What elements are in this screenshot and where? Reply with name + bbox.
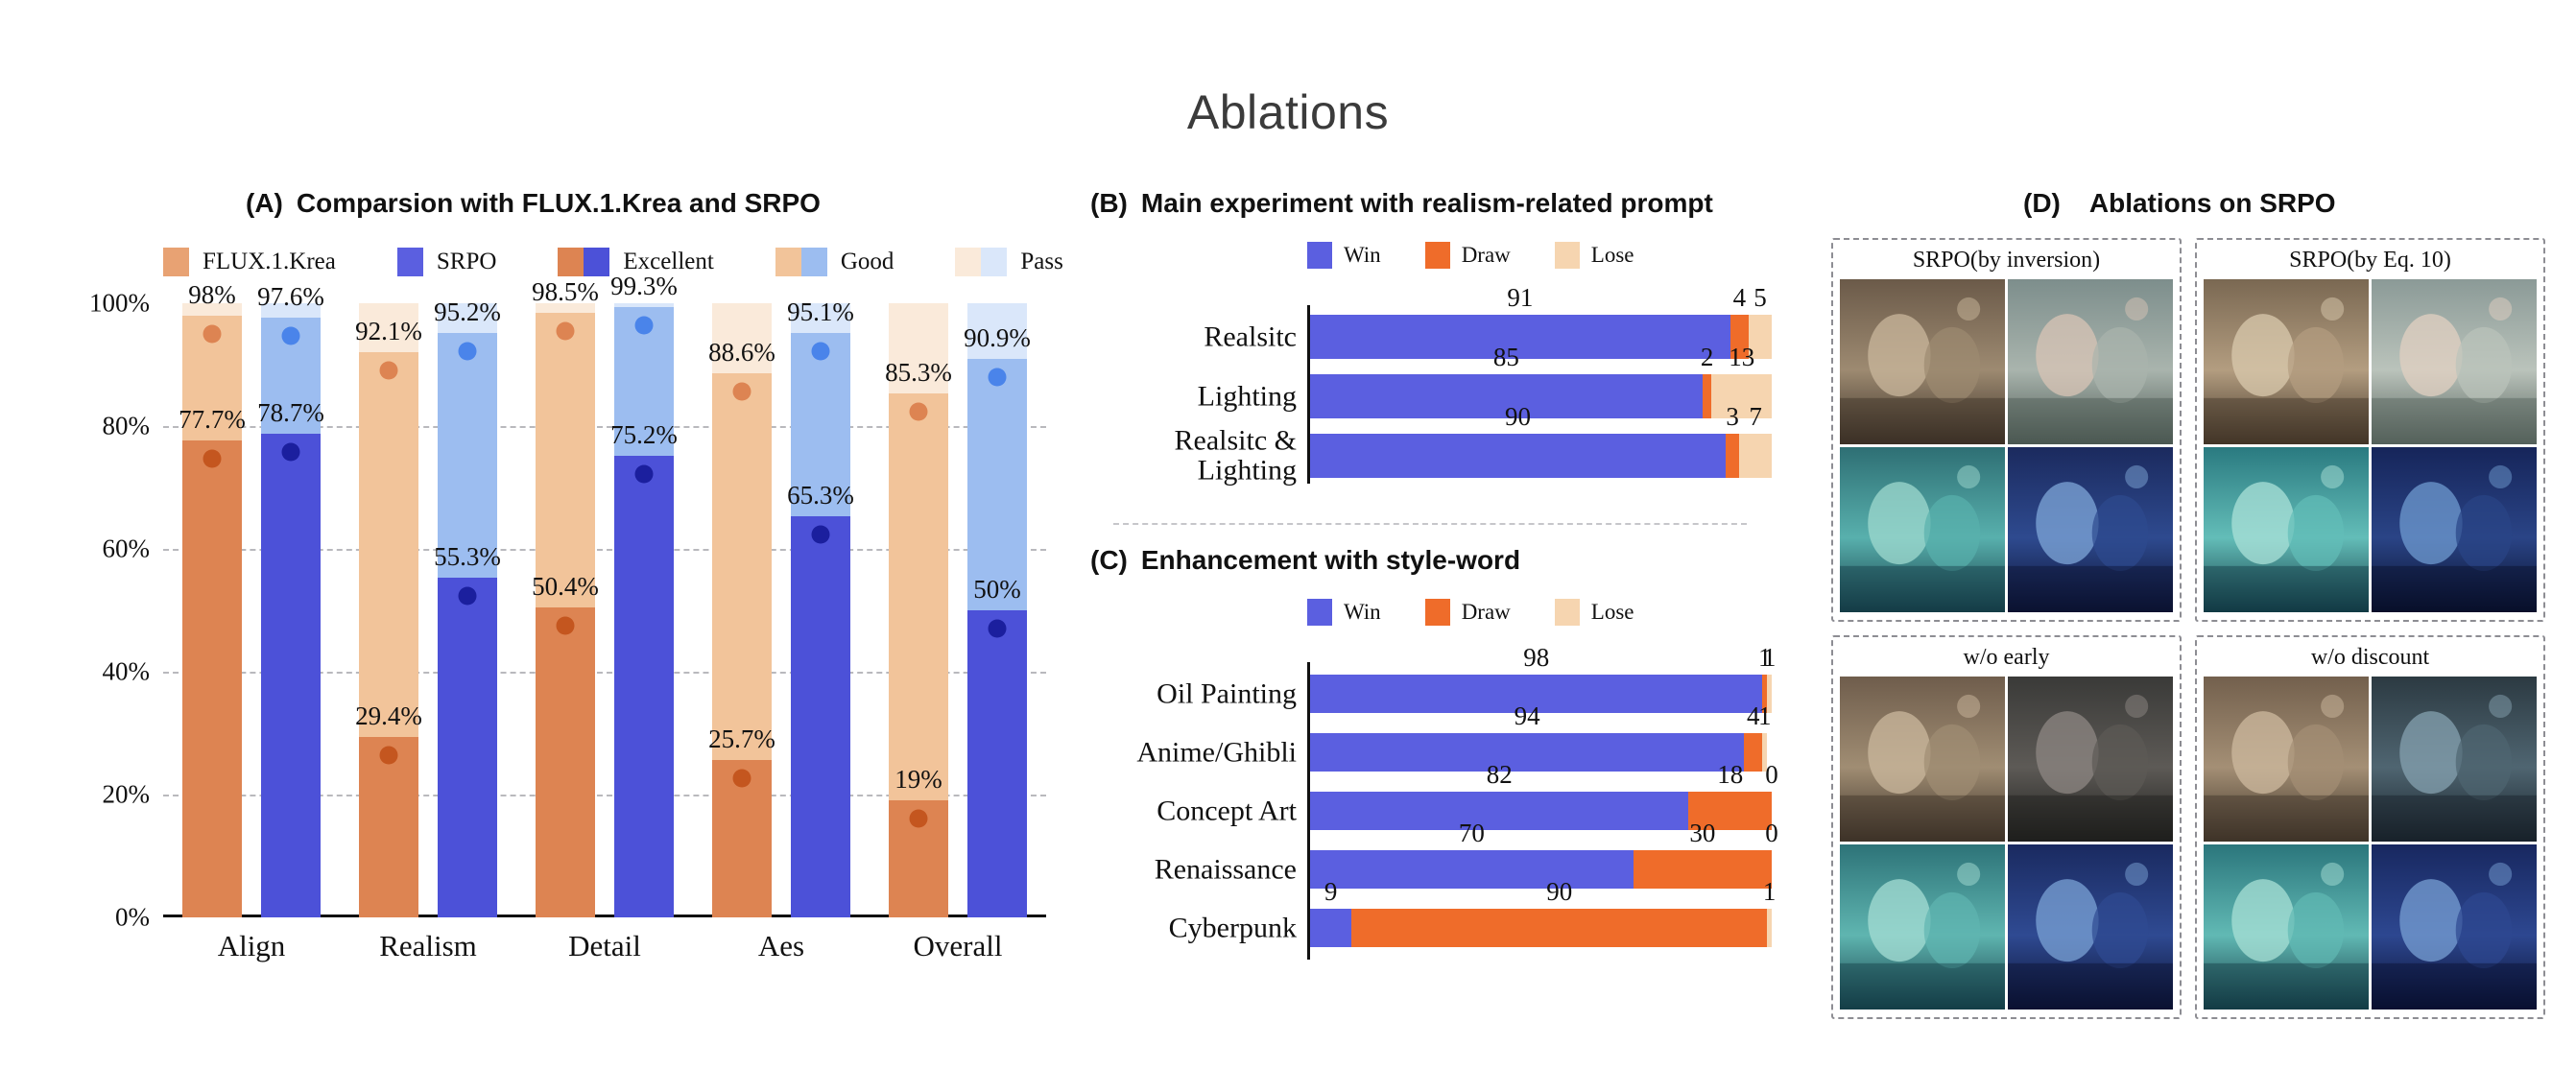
panel-a-title: (A)Comparsion with FLUX.1.Krea and SRPO (246, 188, 821, 219)
page-title: Ablations (0, 84, 2576, 140)
panel-b-plot: Realsitc9145Lighting85213Realsitc &Light… (1307, 305, 1772, 484)
panel-c-plot: Oil Painting9811Anime/Ghibli9441Concept … (1307, 662, 1772, 960)
segment-win[interactable] (1310, 850, 1634, 889)
x-axis-label: Detail (568, 929, 641, 963)
mountain-night-image[interactable] (2008, 844, 2173, 1010)
legend-label: Lose (1591, 600, 1634, 625)
marker-dot-good (203, 324, 222, 343)
portrait-image[interactable] (2008, 677, 2173, 842)
panel-b-legend: WinDrawLose (1307, 242, 1679, 269)
value-label-draw: 30 (1689, 819, 1715, 848)
panel-a-tag: (A) (246, 188, 283, 219)
panel-a-plot: 0%20%40%60%80%100%98%77.7%97.6%78.7%Alig… (163, 303, 1046, 917)
x-axis-label: Realism (379, 929, 477, 963)
segment-draw[interactable] (1634, 850, 1772, 889)
mountain-night-image[interactable] (2372, 844, 2537, 1010)
legend-label: Win (1344, 243, 1381, 268)
segment-lose[interactable] (1767, 909, 1772, 947)
value-label-good: 98% (188, 280, 236, 310)
segment-excellent (182, 440, 242, 917)
legend-label: Draw (1462, 600, 1511, 625)
marker-dot-good (733, 382, 751, 400)
value-label-win: 85 (1493, 343, 1519, 372)
portrait-image[interactable] (2008, 279, 2173, 444)
row-label: Realsitc &Lighting (1175, 425, 1297, 486)
segment-excellent (967, 610, 1027, 917)
row-label: Concept Art (1157, 796, 1297, 826)
legend-item-srpo[interactable]: SRPO (397, 248, 497, 276)
segment-excellent (791, 516, 850, 917)
legend-item-good[interactable]: Good (775, 248, 894, 276)
legend-label: Good (841, 249, 894, 275)
legend-label: Lose (1591, 243, 1634, 268)
value-label-win: 98 (1523, 643, 1549, 673)
panel-d-tag: (D) (2023, 188, 2061, 219)
swatch-color (163, 248, 189, 276)
value-label-win: 91 (1507, 283, 1533, 313)
value-label-good: 95.1% (787, 297, 854, 327)
bar-srpo[interactable]: 97.6%78.7% (261, 303, 321, 917)
mountain-night-image[interactable] (2372, 447, 2537, 612)
panel-b-tag: (B) (1090, 188, 1128, 219)
panel-divider (1113, 523, 1747, 525)
row-label: Oil Painting (1157, 678, 1297, 709)
value-label-good: 98.5% (532, 277, 599, 307)
legend-item-flux-1-krea[interactable]: FLUX.1.Krea (163, 248, 336, 276)
row-label: Realsitc (1204, 321, 1297, 352)
bar-row: Lighting85213 (1310, 374, 1772, 418)
marker-dot-good (812, 343, 830, 361)
legend-label: Draw (1462, 243, 1511, 268)
marker-dot-good (282, 327, 300, 345)
marker-dot-good (635, 317, 654, 335)
bar-group-realism: 92.1%29.4%95.2%55.3%Realism (359, 303, 497, 917)
y-axis-tick: 40% (103, 657, 151, 687)
value-label-excellent: 55.3% (434, 542, 501, 572)
bar-track: 9037 (1310, 434, 1772, 478)
bar-track: 70300 (1310, 850, 1772, 889)
ablation-cell-1[interactable]: SRPO(by Eq. 10) (2195, 238, 2545, 622)
waterfall-image[interactable] (2204, 447, 2369, 612)
image-quad (1840, 279, 2173, 612)
row-label: Cyberpunk (1169, 913, 1297, 943)
value-label-lose: 0 (1765, 819, 1778, 848)
value-label-lose: 7 (1749, 402, 1762, 432)
segment-good (967, 359, 1027, 610)
legend-item-lose[interactable]: Lose (1555, 599, 1634, 626)
value-label-win: 82 (1487, 760, 1513, 790)
legend-item-win[interactable]: Win (1307, 242, 1381, 269)
bar-srpo[interactable]: 95.2%55.3% (438, 303, 497, 917)
value-label-lose: 1 (1758, 701, 1772, 731)
swatch-color (775, 248, 801, 276)
legend-swatch (775, 248, 827, 276)
couple-image[interactable] (1840, 677, 2005, 842)
value-label-draw: 2 (1701, 343, 1714, 372)
marker-dot-good (380, 361, 398, 379)
marker-dot-excellent (557, 617, 575, 635)
segment-draw[interactable] (1744, 733, 1762, 772)
value-label-good: 95.2% (434, 297, 501, 327)
segment-good (536, 313, 595, 608)
bar-group-aes: 88.6%25.7%95.1%65.3%Aes (712, 303, 850, 917)
portrait-image[interactable] (2372, 279, 2537, 444)
value-label-excellent: 25.7% (708, 725, 775, 754)
ablation-cell-title: SRPO(by Eq. 10) (2204, 248, 2537, 273)
x-axis-label: Overall (914, 929, 1003, 963)
segment-win[interactable] (1310, 909, 1351, 947)
legend-label: Win (1344, 600, 1381, 625)
legend-label: Pass (1020, 249, 1062, 275)
marker-dot-excellent (812, 526, 830, 544)
legend-swatch (1425, 599, 1450, 626)
swatch-color (981, 248, 1007, 276)
value-label-excellent: 29.4% (355, 701, 422, 731)
waterfall-image[interactable] (1840, 844, 2005, 1010)
segment-win[interactable] (1310, 434, 1726, 478)
panel-c-title: (C)Enhancement with style-word (1090, 545, 1520, 576)
value-label-good: 99.3% (610, 272, 678, 301)
portrait-image[interactable] (2372, 677, 2537, 842)
legend-item-draw[interactable]: Draw (1425, 599, 1511, 626)
value-label-excellent: 75.2% (610, 420, 678, 450)
legend-swatch (1307, 599, 1332, 626)
ablation-cell-title: SRPO(by inversion) (1840, 248, 2173, 273)
bar-flux-1-krea[interactable]: 92.1%29.4% (359, 303, 418, 917)
value-label-draw: 4 (1733, 283, 1747, 313)
segment-lose[interactable] (1711, 374, 1772, 418)
bar-srpo[interactable]: 99.3%75.2% (614, 303, 674, 917)
value-label-good: 90.9% (964, 323, 1031, 353)
bar-row: Oil Painting9811 (1310, 675, 1772, 713)
segment-excellent (438, 578, 497, 917)
segment-excellent (614, 456, 674, 917)
marker-dot-excellent (380, 746, 398, 764)
value-label-win: 9 (1324, 877, 1338, 907)
panel-b-main-experiment: (B)Main experiment with realism-related … (1090, 188, 1781, 495)
bar-row: Realsitc &Lighting9037 (1310, 434, 1772, 478)
swatch-color (397, 248, 423, 276)
legend-item-draw[interactable]: Draw (1425, 242, 1511, 269)
x-axis-label: Align (218, 929, 286, 963)
marker-dot-good (557, 321, 575, 340)
image-quad (2204, 677, 2537, 1010)
value-label-lose: 0 (1765, 760, 1778, 790)
marker-dot-excellent (733, 769, 751, 787)
marker-dot-good (910, 403, 928, 421)
segment-lose[interactable] (1739, 434, 1772, 478)
value-label-good: 88.6% (708, 338, 775, 368)
panel-c-legend: WinDrawLose (1307, 599, 1679, 626)
value-label-win: 90 (1505, 402, 1531, 432)
row-label: Lighting (1198, 381, 1297, 412)
bar-group-detail: 98.5%50.4%99.3%75.2%Detail (536, 303, 674, 917)
y-axis-tick: 0% (115, 903, 150, 933)
segment-good (359, 352, 418, 737)
panel-b-title: (B)Main experiment with realism-related … (1090, 188, 1713, 219)
panel-d-grid: SRPO(by inversion)SRPO(by Eq. 10)w/o ear… (1831, 238, 2545, 967)
waterfall-image[interactable] (1840, 447, 2005, 612)
swatch-color (801, 248, 827, 276)
legend-item-pass[interactable]: Pass (955, 248, 1062, 276)
swatch-color (584, 248, 609, 276)
y-axis-tick: 80% (103, 412, 151, 441)
value-label-good: 92.1% (355, 317, 422, 346)
bar-track: 9901 (1310, 909, 1772, 947)
marker-dot-excellent (910, 810, 928, 828)
row-label: Renaissance (1155, 854, 1297, 885)
x-axis-label: Aes (758, 929, 804, 963)
bar-row: Anime/Ghibli9441 (1310, 733, 1772, 772)
legend-label: FLUX.1.Krea (203, 249, 336, 275)
bar-srpo[interactable]: 95.1%65.3% (791, 303, 850, 917)
legend-swatch (955, 248, 1007, 276)
panel-d-title: (D)Ablations on SRPO (2023, 188, 2336, 219)
bar-track: 9441 (1310, 733, 1772, 772)
panel-c-tag: (C) (1090, 545, 1128, 576)
segment-draw[interactable] (1726, 434, 1739, 478)
swatch-color (955, 248, 981, 276)
y-axis-tick: 60% (103, 534, 151, 564)
panel-c-title-text: Enhancement with style-word (1141, 545, 1520, 575)
legend-item-lose[interactable]: Lose (1555, 242, 1634, 269)
bar-srpo[interactable]: 90.9%50% (967, 303, 1027, 917)
ablation-cell-0[interactable]: SRPO(by inversion) (1831, 238, 2182, 622)
panel-a-comparison: (A)Comparsion with FLUX.1.Krea and SRPO … (58, 188, 1046, 1004)
legend-swatch (558, 248, 609, 276)
value-label-excellent: 77.7% (179, 405, 246, 435)
marker-dot-excellent (282, 443, 300, 462)
ablation-cell-2[interactable]: w/o early (1831, 635, 2182, 1019)
swatch-color (558, 248, 584, 276)
segment-excellent (261, 434, 321, 917)
marker-dot-excellent (203, 449, 222, 467)
legend-item-win[interactable]: Win (1307, 599, 1381, 626)
value-label-win: 70 (1459, 819, 1485, 848)
ablation-cell-title: w/o discount (2204, 645, 2537, 671)
couple-image[interactable] (2204, 677, 2369, 842)
panel-d-title-text: Ablations on SRPO (2089, 188, 2336, 218)
panel-c-style-word: (C)Enhancement with style-word WinDrawLo… (1090, 545, 1781, 958)
segment-draw[interactable] (1351, 909, 1767, 947)
value-label-excellent: 50.4% (532, 572, 599, 602)
marker-dot-good (459, 342, 477, 360)
image-quad (2204, 279, 2537, 612)
bar-flux-1-krea[interactable]: 85.3%19% (889, 303, 948, 917)
value-label-excellent: 78.7% (257, 398, 324, 428)
value-label-lose: 5 (1753, 283, 1767, 313)
bar-flux-1-krea[interactable]: 88.6%25.7% (712, 303, 772, 917)
value-label-win: 94 (1515, 701, 1540, 731)
legend-swatch (163, 248, 189, 276)
legend-swatch (1555, 599, 1580, 626)
value-label-lose: 1 (1763, 877, 1777, 907)
legend-label: SRPO (437, 249, 497, 275)
panel-a-title-text: Comparsion with FLUX.1.Krea and SRPO (297, 188, 821, 218)
value-label-draw: 3 (1726, 402, 1739, 432)
value-label-lose: 13 (1729, 343, 1754, 372)
y-axis-tick: 100% (89, 289, 150, 319)
value-label-excellent: 65.3% (787, 481, 854, 511)
value-label-lose: 1 (1763, 643, 1777, 673)
legend-swatch (397, 248, 423, 276)
value-label-good: 97.6% (257, 282, 324, 312)
bar-row: Renaissance70300 (1310, 850, 1772, 889)
segment-good (889, 393, 948, 800)
image-quad (1840, 677, 2173, 1010)
ablation-cell-3[interactable]: w/o discount (2195, 635, 2545, 1019)
segment-win[interactable] (1310, 733, 1744, 772)
segment-good (712, 373, 772, 760)
bar-track: 9811 (1310, 675, 1772, 713)
segment-win[interactable] (1310, 315, 1730, 359)
legend-swatch (1307, 242, 1332, 269)
couple-image[interactable] (2204, 279, 2369, 444)
value-label-excellent: 19% (894, 765, 942, 795)
marker-dot-good (989, 368, 1007, 387)
ablation-cell-title: w/o early (1840, 645, 2173, 671)
row-label: Anime/Ghibli (1136, 737, 1297, 768)
bar-group-align: 98%77.7%97.6%78.7%Align (182, 303, 321, 917)
panel-b-title-text: Main experiment with realism-related pro… (1141, 188, 1713, 218)
legend-swatch (1555, 242, 1580, 269)
value-label-draw: 18 (1717, 760, 1743, 790)
segment-good (438, 333, 497, 578)
bar-track: 85213 (1310, 374, 1772, 418)
waterfall-image[interactable] (2204, 844, 2369, 1010)
bar-flux-1-krea[interactable]: 98.5%50.4% (536, 303, 595, 917)
value-label-draw: 90 (1546, 877, 1572, 907)
bar-flux-1-krea[interactable]: 98%77.7% (182, 303, 242, 917)
marker-dot-excellent (459, 587, 477, 606)
mountain-night-image[interactable] (2008, 447, 2173, 612)
value-label-excellent: 50% (973, 575, 1021, 605)
segment-excellent (536, 607, 595, 917)
bar-row: Cyberpunk9901 (1310, 909, 1772, 947)
segment-draw[interactable] (1703, 374, 1712, 418)
segment-win[interactable] (1310, 792, 1688, 830)
y-axis-tick: 20% (103, 780, 151, 810)
bar-group-overall: 85.3%19%90.9%50%Overall (889, 303, 1027, 917)
panel-d-ablations: (D)Ablations on SRPO SRPO(by inversion)S… (1824, 188, 2553, 985)
couple-image[interactable] (1840, 279, 2005, 444)
marker-dot-excellent (635, 464, 654, 483)
value-label-good: 85.3% (885, 358, 952, 388)
marker-dot-excellent (989, 620, 1007, 638)
legend-swatch (1425, 242, 1450, 269)
